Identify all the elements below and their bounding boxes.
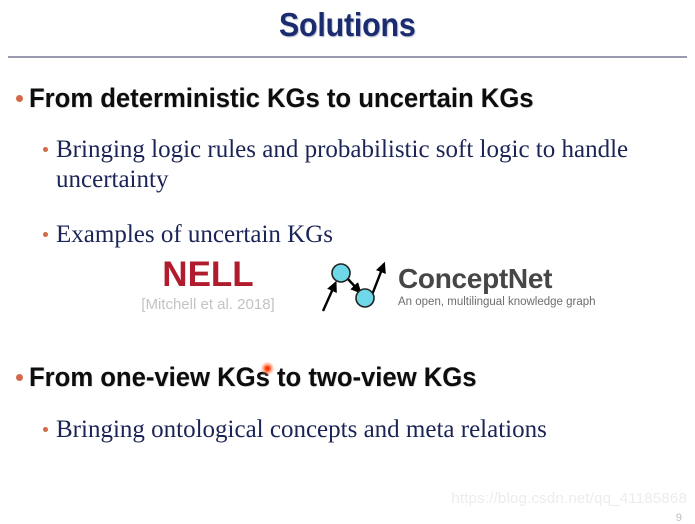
page-number: 9 [676,512,682,524]
bullet-marker-icon [43,427,48,432]
nell-citation: [Mitchell et al. 2018] [118,296,298,314]
bullet-level1-deterministic: From deterministic KGs to uncertain KGs [16,82,686,114]
conceptnet-wordmark: ConceptNet [398,264,596,294]
title-divider [8,56,687,58]
nell-logo-block: NELL [Mitchell et al. 2018] [118,256,298,314]
page-title: Solutions [279,6,416,44]
bullet-marker-icon [43,147,48,152]
bullet-text: From deterministic KGs to uncertain KGs [29,82,534,114]
bullet-marker-icon [16,95,23,102]
watermark-text: https://blog.csdn.net/qq_41185868 [451,490,687,507]
knowledge-graph-icon [320,258,392,314]
slide-canvas: Solutions From deterministic KGs to unce… [0,0,695,520]
bullet-level2-ontological: Bringing ontological concepts and meta r… [43,415,688,445]
bullet-level2-logic-rules: Bringing logic rules and probabilistic s… [43,135,688,195]
nell-wordmark: NELL [118,256,298,294]
bullet-level1-one-view: From one-view KGs to two-view KGs [16,361,686,393]
bullet-text: From one-view KGs to two-view KGs [29,361,477,393]
bullet-text: Bringing ontological concepts and meta r… [56,415,547,445]
conceptnet-tagline: An open, multilingual knowledge graph [398,295,596,309]
bullet-text: Examples of uncertain KGs [56,220,333,250]
conceptnet-text-block: ConceptNet An open, multilingual knowled… [398,264,596,309]
bullet-text: Bringing logic rules and probabilistic s… [56,135,688,195]
laser-pointer-icon [261,362,274,375]
conceptnet-logo-block: ConceptNet An open, multilingual knowled… [320,258,596,314]
bullet-marker-icon [43,232,48,237]
bullet-level2-examples: Examples of uncertain KGs [43,220,688,250]
slide-title-area: Solutions [0,6,695,44]
bullet-marker-icon [16,374,23,381]
